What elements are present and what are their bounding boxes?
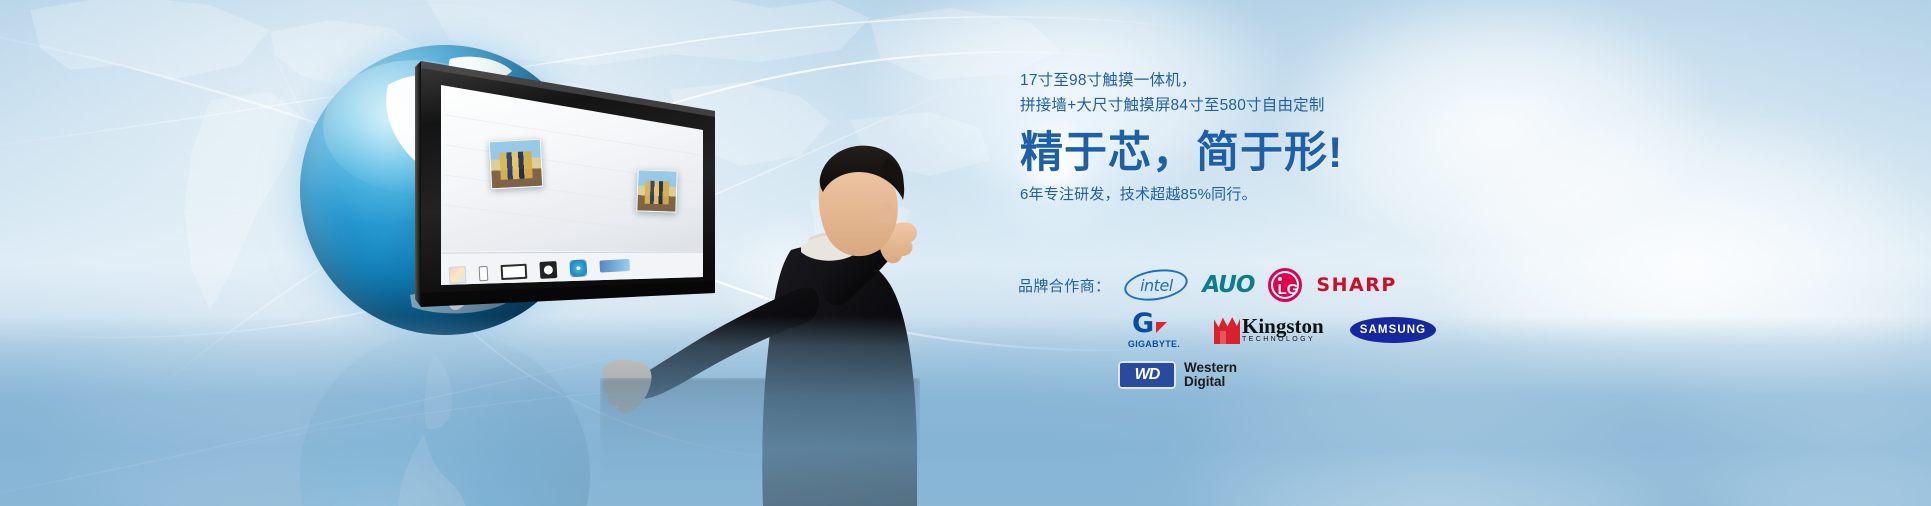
copy-line-2: 拼接墙+大尺寸触摸屏84寸至580寸自由定制 bbox=[1020, 93, 1450, 118]
crown-icon bbox=[1214, 316, 1240, 344]
screen-photo-left bbox=[489, 139, 543, 190]
promo-banner: 17寸至98寸触摸一体机， 拼接墙+大尺寸触摸屏84寸至580寸自由定制 精于芯… bbox=[0, 0, 1931, 506]
samsung-logo: SAMSUNG bbox=[1350, 317, 1436, 343]
person-reflection bbox=[600, 378, 920, 506]
headline: 精于芯，简于形! bbox=[1020, 126, 1450, 180]
partner-row-2: G GIGABYTE. Kingston TECHNOLOGY SAMSUNG bbox=[1018, 311, 1478, 349]
copy-line-1: 17寸至98寸触摸一体机， bbox=[1020, 68, 1450, 93]
marketing-copy: 17寸至98寸触摸一体机， 拼接墙+大尺寸触摸屏84寸至580寸自由定制 精于芯… bbox=[1020, 68, 1450, 206]
partner-row-1: 品牌合作商： intel AUO LG SHARP bbox=[1018, 268, 1478, 302]
partner-logos: 品牌合作商： intel AUO LG SHARP G GIGABYTE. bbox=[1018, 268, 1478, 392]
intel-logo: intel bbox=[1124, 270, 1188, 300]
partners-label: 品牌合作商： bbox=[1018, 275, 1110, 296]
sharp-logo: SHARP bbox=[1316, 274, 1396, 296]
partner-row-3: WD Western Digital bbox=[1018, 358, 1478, 392]
screen-photo-right bbox=[636, 169, 677, 212]
subline: 6年专注研发，技术超越85%同行。 bbox=[1020, 183, 1450, 206]
auo-logo: AUO bbox=[1202, 272, 1254, 298]
kingston-logo: Kingston TECHNOLOGY bbox=[1214, 312, 1326, 348]
western-digital-logo: WD Western Digital bbox=[1118, 361, 1237, 389]
gigabyte-logo: G GIGABYTE. bbox=[1118, 311, 1190, 349]
lg-logo: LG bbox=[1268, 268, 1302, 302]
